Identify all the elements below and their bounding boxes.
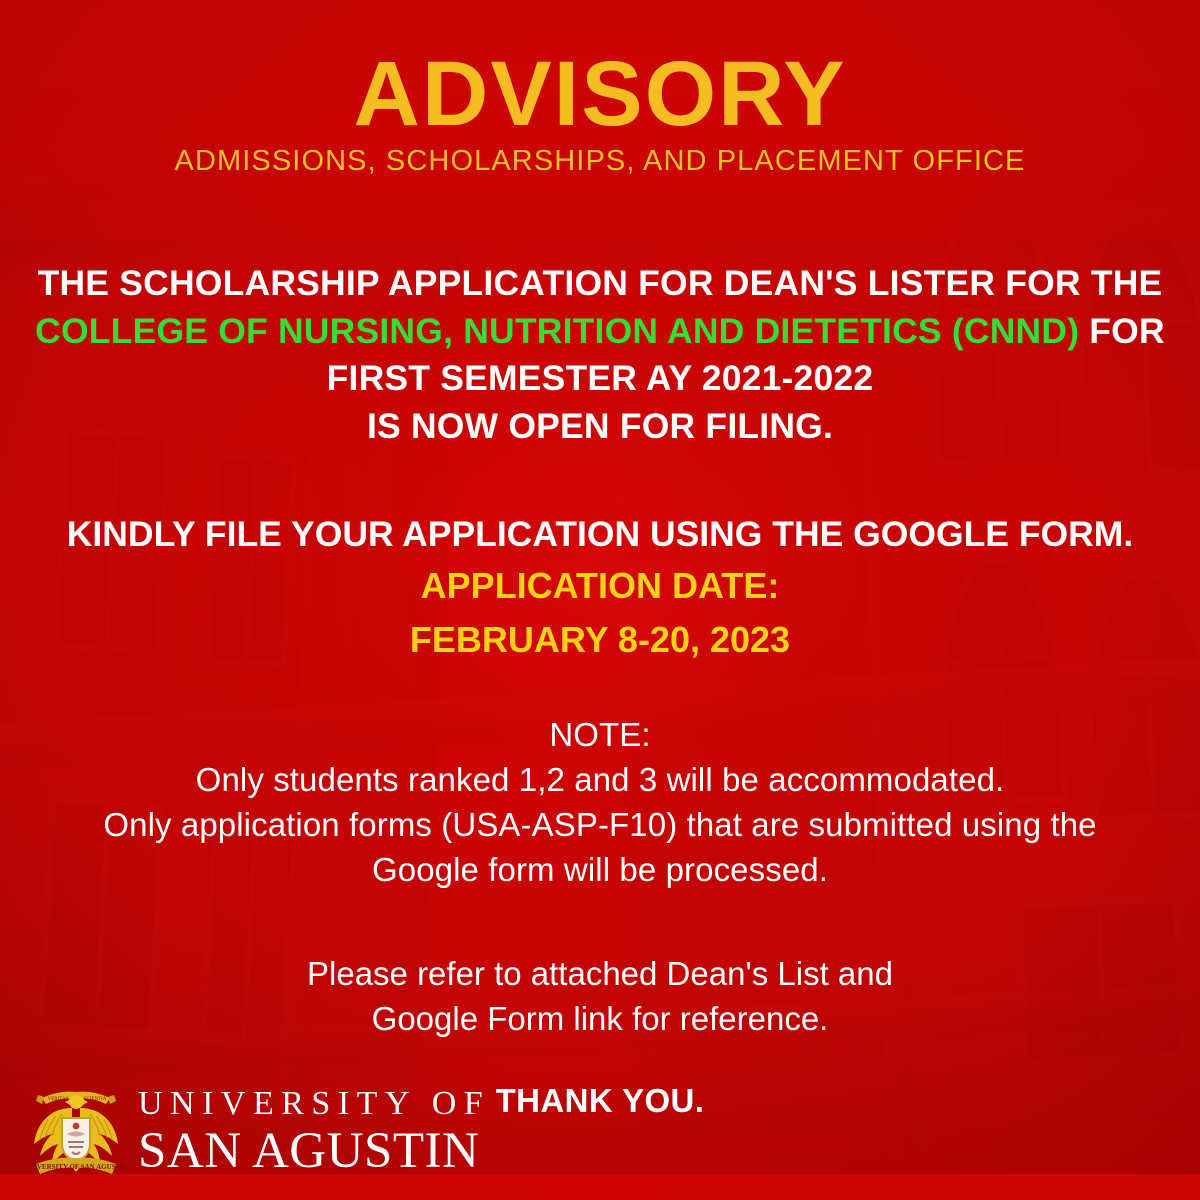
note-line-3: Google form will be processed. xyxy=(0,848,1200,893)
note-line-2: Only application forms (USA-ASP-F10) tha… xyxy=(0,803,1200,848)
closing-line-2: Google Form link for reference. xyxy=(0,996,1200,1042)
announcement-line-2: COLLEGE OF NURSING, NUTRITION AND DIETET… xyxy=(0,308,1200,356)
university-crest-icon: UNIVERSITY OF SAN AGUSTIN VERITAS SCIENT… xyxy=(28,1082,124,1182)
announcement-line-2-tail: FOR xyxy=(1079,311,1165,351)
instruction-line: KINDLY FILE YOUR APPLICATION USING THE G… xyxy=(0,511,1200,559)
poster-header: ADVISORY ADMISSIONS, SCHOLARSHIPS, AND P… xyxy=(0,0,1200,176)
advisory-poster: ADVISORY ADMISSIONS, SCHOLARSHIPS, AND P… xyxy=(0,0,1200,1200)
note-block: NOTE: Only students ranked 1,2 and 3 wil… xyxy=(0,713,1200,893)
poster-body: THE SCHOLARSHIP APPLICATION FOR DEAN'S L… xyxy=(0,260,1200,1124)
announcement-emphasis: SCHOLARSHIP APPLICATION xyxy=(119,263,628,303)
office-subtitle: ADMISSIONS, SCHOLARSHIPS, AND PLACEMENT … xyxy=(0,147,1200,176)
announcement-line-1-c: FOR DEAN'S LISTER FOR THE xyxy=(628,263,1162,303)
announcement-line-1: THE SCHOLARSHIP APPLICATION FOR DEAN'S L… xyxy=(0,260,1200,308)
svg-text:UNIVERSITY OF SAN AGUSTIN: UNIVERSITY OF SAN AGUSTIN xyxy=(28,1163,124,1171)
note-heading: NOTE: xyxy=(0,713,1200,758)
note-line-1: Only students ranked 1,2 and 3 will be a… xyxy=(0,758,1200,803)
application-date-label: APPLICATION DATE: xyxy=(0,559,1200,613)
page-title: ADVISORY xyxy=(0,52,1200,137)
closing-line-1: Please refer to attached Dean's List and xyxy=(0,951,1200,997)
svg-text:SCIENTIA: SCIENTIA xyxy=(84,1097,107,1102)
university-wordmark: UNIVERSITY OF SAN AGUSTIN xyxy=(138,1087,490,1177)
announcement-line-3: FIRST SEMESTER AY 2021-2022 xyxy=(0,355,1200,403)
svg-text:VERITAS: VERITAS xyxy=(48,1097,69,1102)
wordmark-line-1: UNIVERSITY OF xyxy=(138,1087,490,1121)
college-name: COLLEGE OF NURSING, NUTRITION AND DIETET… xyxy=(35,311,1079,351)
announcement-block: THE SCHOLARSHIP APPLICATION FOR DEAN'S L… xyxy=(0,260,1200,452)
university-logo: UNIVERSITY OF SAN AGUSTIN VERITAS SCIENT… xyxy=(28,1082,490,1182)
poster-content: ADVISORY ADMISSIONS, SCHOLARSHIPS, AND P… xyxy=(0,0,1200,1200)
instruction-block: KINDLY FILE YOUR APPLICATION USING THE G… xyxy=(0,511,1200,667)
announcement-line-1-a: THE xyxy=(38,263,120,303)
wordmark-line-2: SAN AGUSTIN xyxy=(138,1126,490,1177)
application-date-value: FEBRUARY 8-20, 2023 xyxy=(0,613,1200,667)
announcement-line-4: IS NOW OPEN FOR FILING. xyxy=(0,403,1200,451)
